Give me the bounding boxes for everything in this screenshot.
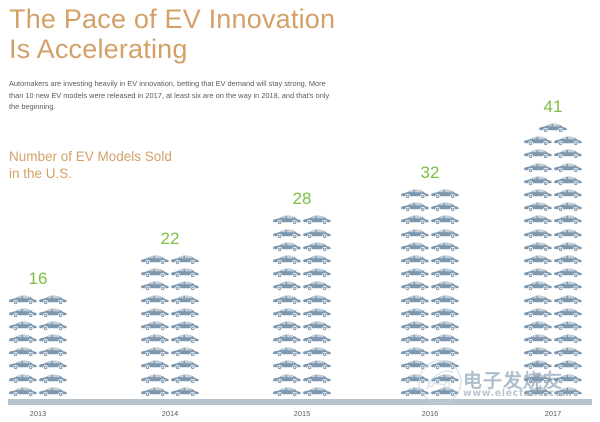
chart-column-2017: 41: [501, 98, 600, 398]
car-icon: [8, 345, 38, 358]
car-icon: [430, 306, 460, 319]
car-icon: [302, 227, 332, 240]
car-row: [8, 358, 68, 371]
car-icon: [302, 266, 332, 279]
car-row: [400, 293, 460, 306]
car-row: [400, 253, 460, 266]
car-icon: [140, 253, 170, 266]
car-row: [272, 279, 332, 292]
car-row: [272, 319, 332, 332]
car-row: [8, 293, 68, 306]
column-value-label: 22: [161, 230, 180, 248]
car-icon: [400, 213, 430, 226]
year-label-2016: 2016: [378, 409, 482, 419]
car-icon: [272, 372, 302, 385]
car-stack: [272, 213, 332, 398]
car-icon: [170, 372, 200, 385]
car-icon: [272, 266, 302, 279]
car-icon: [553, 266, 583, 279]
car-icon: [523, 266, 553, 279]
car-icon: [553, 385, 583, 398]
column-value-label: 41: [544, 98, 563, 116]
year-label-2013: 2013: [0, 409, 90, 419]
car-row: [272, 213, 332, 226]
car-icon: [140, 358, 170, 371]
chart-column-2016: 32: [378, 164, 482, 398]
car-stack: [400, 187, 460, 398]
car-icon: [302, 345, 332, 358]
car-icon: [140, 385, 170, 398]
car-icon: [430, 372, 460, 385]
car-icon: [170, 385, 200, 398]
car-icon: [523, 174, 553, 187]
car-icon: [523, 253, 553, 266]
car-row: [272, 266, 332, 279]
car-row: [140, 372, 200, 385]
car-icon: [553, 213, 583, 226]
car-row: [272, 227, 332, 240]
car-icon: [272, 279, 302, 292]
car-icon: [400, 266, 430, 279]
axis-baseline: [8, 399, 592, 405]
chart-column-2015: 28: [250, 190, 354, 398]
car-icon: [553, 134, 583, 147]
car-icon: [302, 358, 332, 371]
car-stack: [140, 253, 200, 398]
car-row: [523, 161, 583, 174]
car-icon: [400, 200, 430, 213]
car-icon: [8, 306, 38, 319]
car-icon: [553, 332, 583, 345]
car-icon: [140, 266, 170, 279]
car-icon: [400, 358, 430, 371]
car-icon: [523, 200, 553, 213]
car-icon: [38, 345, 68, 358]
car-row: [140, 279, 200, 292]
chart-column-2014: 22: [118, 230, 222, 398]
car-icon: [523, 372, 553, 385]
car-icon: [170, 279, 200, 292]
car-icon: [302, 319, 332, 332]
car-icon: [272, 293, 302, 306]
car-row: [140, 293, 200, 306]
car-icon: [553, 147, 583, 160]
car-icon: [553, 279, 583, 292]
car-icon: [523, 187, 553, 200]
car-icon: [400, 187, 430, 200]
car-row: [523, 319, 583, 332]
car-icon: [38, 332, 68, 345]
car-icon: [523, 319, 553, 332]
car-icon: [523, 227, 553, 240]
car-icon: [553, 227, 583, 240]
car-row: [140, 385, 200, 398]
car-icon: [170, 266, 200, 279]
car-icon: [553, 372, 583, 385]
car-row: [523, 227, 583, 240]
car-icon: [553, 200, 583, 213]
car-icon: [140, 319, 170, 332]
car-row: [140, 306, 200, 319]
car-icon: [523, 240, 553, 253]
car-icon: [523, 385, 553, 398]
car-row: [8, 332, 68, 345]
ev-innovation-infographic: The Pace of EV Innovation Is Acceleratin…: [0, 0, 600, 422]
car-row: [400, 213, 460, 226]
car-row: [140, 253, 200, 266]
car-icon: [272, 240, 302, 253]
car-row: [8, 385, 68, 398]
car-icon: [140, 279, 170, 292]
car-row: [140, 319, 200, 332]
car-icon: [170, 253, 200, 266]
car-icon: [430, 358, 460, 371]
car-icon: [430, 332, 460, 345]
car-icon: [38, 385, 68, 398]
car-row: [538, 121, 568, 134]
column-value-label: 32: [421, 164, 440, 182]
car-icon: [170, 332, 200, 345]
car-icon: [400, 227, 430, 240]
car-icon: [523, 213, 553, 226]
car-row: [140, 266, 200, 279]
car-icon: [430, 385, 460, 398]
car-row: [140, 358, 200, 371]
car-icon: [302, 253, 332, 266]
car-icon: [8, 358, 38, 371]
car-row: [140, 332, 200, 345]
car-icon: [553, 345, 583, 358]
car-icon: [400, 372, 430, 385]
car-icon: [170, 306, 200, 319]
car-icon: [8, 372, 38, 385]
car-icon: [38, 306, 68, 319]
car-icon: [430, 240, 460, 253]
car-icon: [302, 279, 332, 292]
column-value-label: 28: [293, 190, 312, 208]
car-icon: [38, 319, 68, 332]
car-row: [523, 279, 583, 292]
car-row: [400, 385, 460, 398]
car-row: [272, 253, 332, 266]
car-icon: [272, 306, 302, 319]
pictogram-chart: 1622283241: [0, 0, 600, 422]
car-row: [400, 345, 460, 358]
car-row: [272, 293, 332, 306]
car-icon: [538, 121, 568, 134]
car-row: [523, 332, 583, 345]
car-row: [523, 345, 583, 358]
car-icon: [400, 345, 430, 358]
car-icon: [272, 358, 302, 371]
car-icon: [272, 253, 302, 266]
car-icon: [302, 306, 332, 319]
car-icon: [8, 385, 38, 398]
car-icon: [523, 345, 553, 358]
car-row: [272, 306, 332, 319]
car-icon: [553, 240, 583, 253]
car-row: [523, 385, 583, 398]
car-icon: [8, 319, 38, 332]
car-row: [8, 345, 68, 358]
car-icon: [430, 279, 460, 292]
car-icon: [523, 279, 553, 292]
car-icon: [302, 213, 332, 226]
car-row: [400, 266, 460, 279]
car-icon: [553, 319, 583, 332]
car-icon: [302, 385, 332, 398]
car-row: [272, 240, 332, 253]
car-icon: [400, 253, 430, 266]
car-row: [523, 200, 583, 213]
car-row: [400, 332, 460, 345]
car-row: [8, 372, 68, 385]
car-icon: [430, 345, 460, 358]
car-row: [523, 293, 583, 306]
column-value-label: 16: [29, 270, 48, 288]
car-icon: [302, 240, 332, 253]
car-icon: [302, 332, 332, 345]
car-icon: [400, 279, 430, 292]
car-icon: [400, 306, 430, 319]
car-icon: [430, 187, 460, 200]
car-icon: [140, 306, 170, 319]
car-icon: [140, 345, 170, 358]
car-icon: [140, 332, 170, 345]
car-icon: [170, 345, 200, 358]
car-icon: [430, 319, 460, 332]
car-row: [140, 345, 200, 358]
car-icon: [272, 385, 302, 398]
car-stack: [523, 121, 583, 398]
car-row: [400, 319, 460, 332]
car-icon: [400, 293, 430, 306]
car-icon: [272, 319, 302, 332]
car-row: [272, 358, 332, 371]
car-row: [523, 266, 583, 279]
car-row: [272, 385, 332, 398]
car-icon: [523, 134, 553, 147]
car-icon: [523, 161, 553, 174]
car-icon: [140, 293, 170, 306]
car-icon: [170, 319, 200, 332]
car-icon: [400, 332, 430, 345]
car-icon: [170, 358, 200, 371]
car-row: [400, 187, 460, 200]
car-icon: [430, 213, 460, 226]
car-icon: [272, 213, 302, 226]
car-icon: [302, 293, 332, 306]
car-row: [400, 279, 460, 292]
car-icon: [523, 306, 553, 319]
car-row: [8, 319, 68, 332]
car-row: [523, 306, 583, 319]
car-row: [8, 306, 68, 319]
car-row: [523, 174, 583, 187]
car-row: [272, 345, 332, 358]
car-row: [523, 134, 583, 147]
car-stack: [8, 293, 68, 399]
car-row: [523, 372, 583, 385]
car-row: [400, 306, 460, 319]
car-icon: [170, 293, 200, 306]
car-icon: [553, 293, 583, 306]
car-icon: [553, 174, 583, 187]
year-label-2014: 2014: [118, 409, 222, 419]
car-icon: [523, 358, 553, 371]
car-icon: [523, 293, 553, 306]
car-icon: [38, 372, 68, 385]
car-row: [400, 227, 460, 240]
car-icon: [272, 332, 302, 345]
car-icon: [38, 293, 68, 306]
car-icon: [400, 240, 430, 253]
year-label-2015: 2015: [250, 409, 354, 419]
car-row: [523, 213, 583, 226]
car-row: [400, 200, 460, 213]
year-label-2017: 2017: [501, 409, 600, 419]
car-icon: [8, 293, 38, 306]
car-icon: [523, 147, 553, 160]
car-icon: [430, 227, 460, 240]
car-icon: [302, 372, 332, 385]
car-row: [523, 187, 583, 200]
car-row: [523, 253, 583, 266]
car-icon: [553, 358, 583, 371]
car-icon: [430, 293, 460, 306]
car-icon: [430, 266, 460, 279]
car-icon: [553, 253, 583, 266]
car-icon: [553, 187, 583, 200]
car-row: [400, 372, 460, 385]
car-icon: [553, 161, 583, 174]
car-icon: [430, 200, 460, 213]
car-icon: [430, 253, 460, 266]
car-row: [523, 358, 583, 371]
car-row: [400, 240, 460, 253]
car-row: [523, 240, 583, 253]
car-icon: [140, 372, 170, 385]
car-icon: [553, 306, 583, 319]
car-icon: [400, 385, 430, 398]
car-icon: [523, 332, 553, 345]
car-icon: [38, 358, 68, 371]
car-row: [523, 147, 583, 160]
chart-column-2013: 16: [0, 270, 90, 399]
car-icon: [8, 332, 38, 345]
car-row: [272, 332, 332, 345]
car-icon: [272, 345, 302, 358]
car-icon: [272, 227, 302, 240]
car-icon: [400, 319, 430, 332]
car-row: [272, 372, 332, 385]
car-row: [400, 358, 460, 371]
